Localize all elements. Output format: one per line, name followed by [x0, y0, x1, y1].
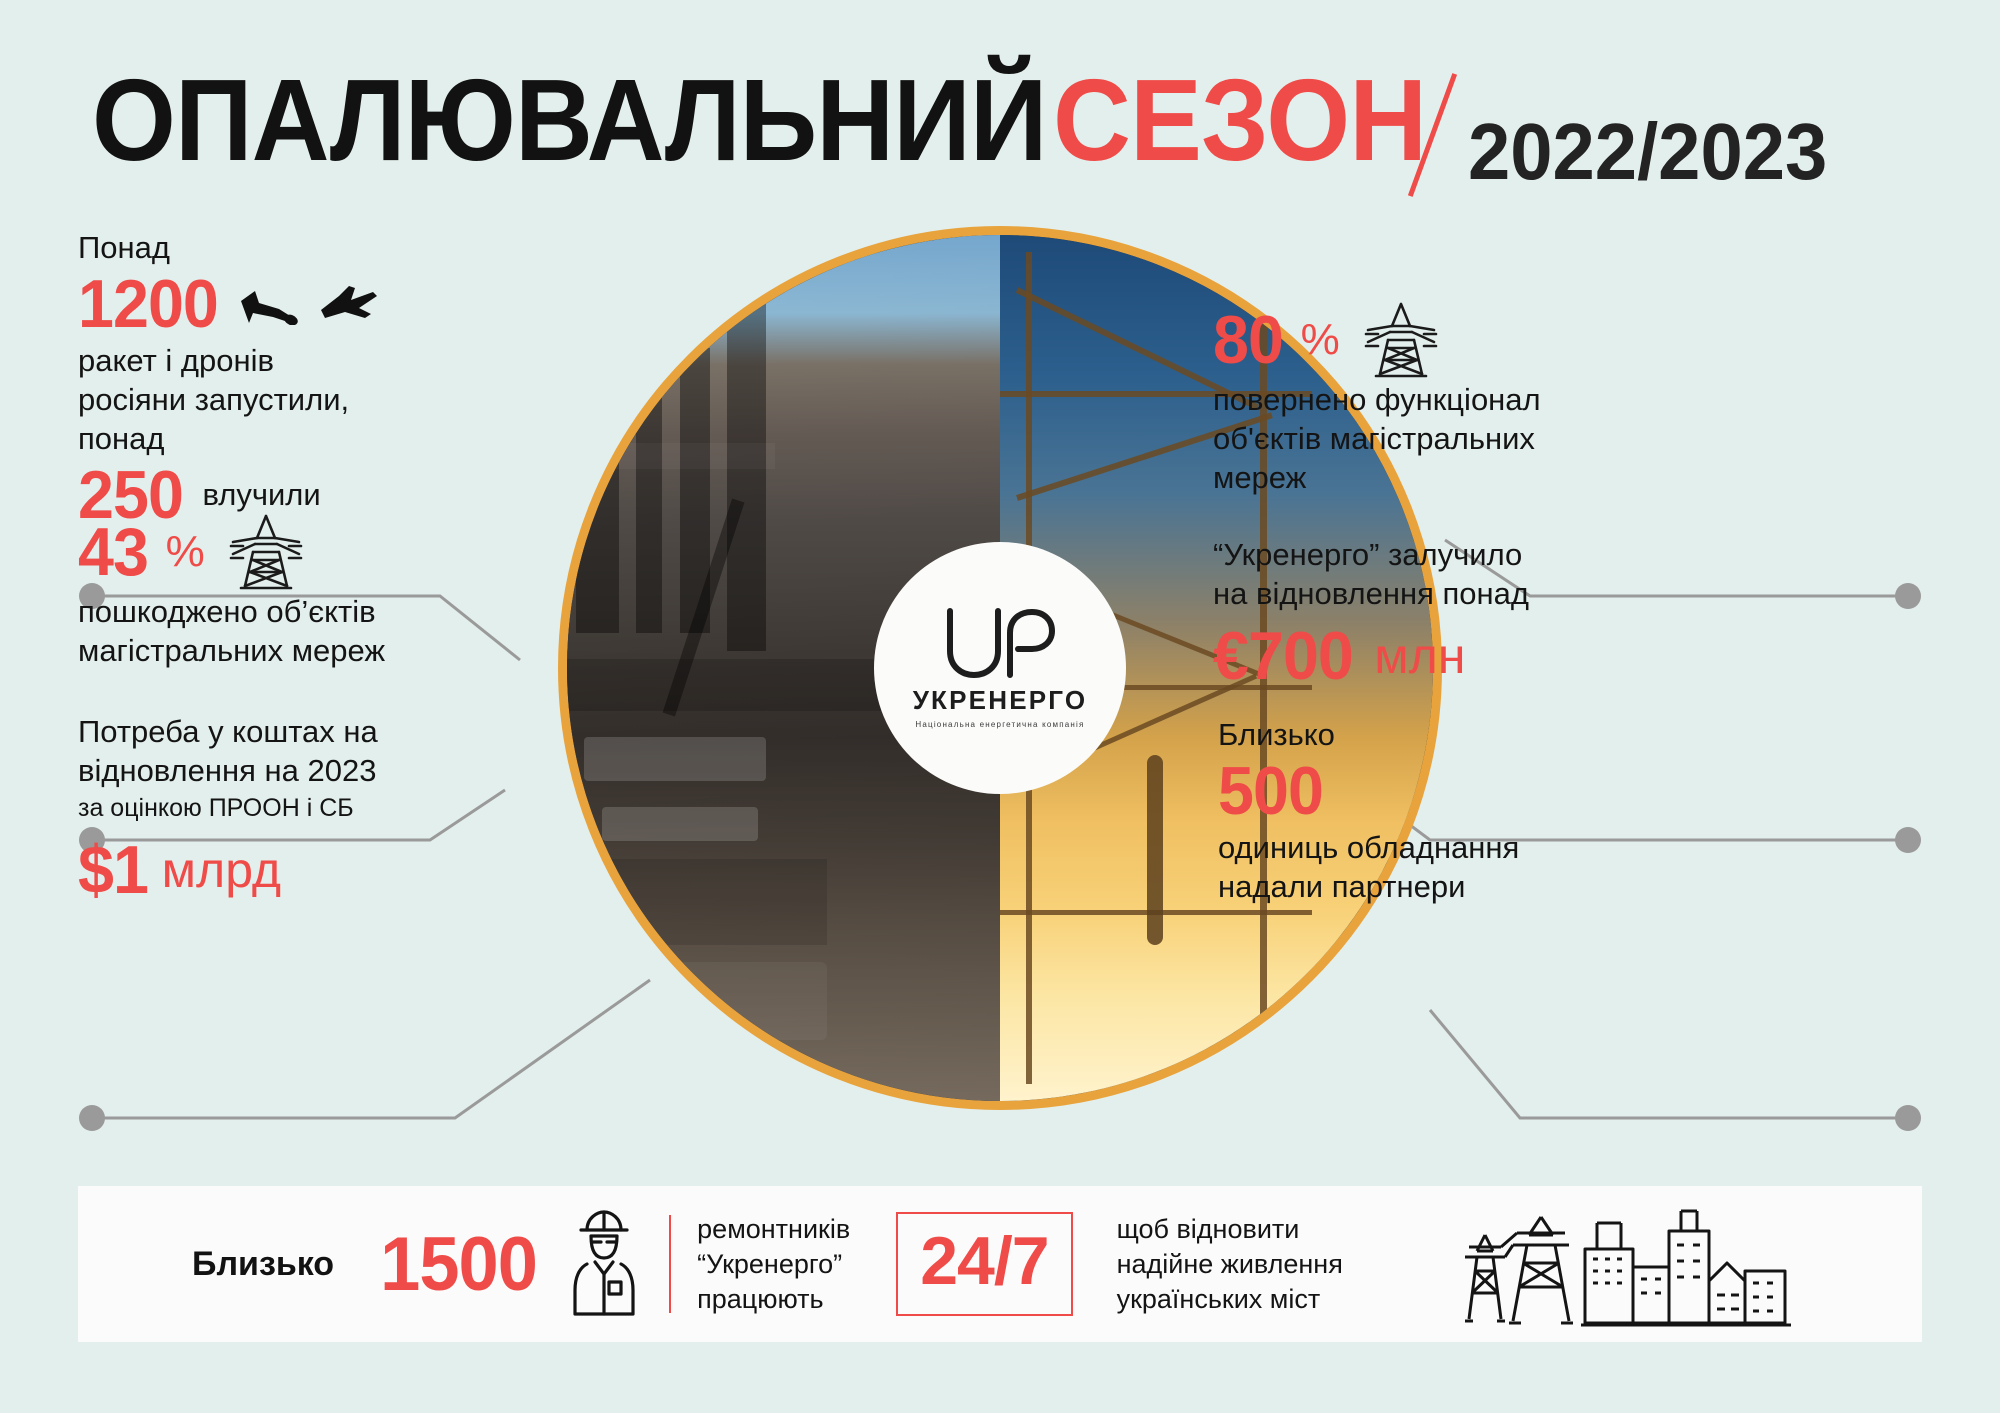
banner-text2-line3: українських міст — [1117, 1282, 1343, 1317]
stat-damaged-percent: 43 % пошкоджено об’єк — [78, 512, 498, 670]
stat-missiles-kicker: Понад — [78, 228, 498, 267]
stat-missiles-and-drones: Понад 1200 ракет і дронів росіяни запуст… — [78, 228, 498, 532]
banner-text1-line1: ремонтників — [697, 1212, 850, 1247]
page-title-accent: СЕЗОН — [1053, 62, 1426, 178]
drone-icon — [315, 284, 379, 324]
stat-restored-line1: повернено функціонал — [1213, 380, 1673, 419]
stat-funding-value: $1 — [78, 833, 148, 907]
stat-units-value: 500 — [1218, 754, 1323, 828]
stat-restored-line3: мереж — [1213, 458, 1673, 497]
stat-funds-raised: “Укренерго” залучило на відновлення пона… — [1213, 535, 1683, 693]
stat-damaged-percent-sign: % — [166, 527, 205, 577]
stat-units-kicker: Близько — [1218, 715, 1678, 754]
stat-missiles-line1: ракет і дронів — [78, 341, 498, 380]
stat-restored-line2: об'єктів магістральних — [1213, 419, 1673, 458]
banner-text1-line2: “Укренерго” — [697, 1247, 850, 1282]
page-title-main: ОПАЛЮВАЛЬНИЙ — [92, 62, 1046, 178]
banner-text-workers: ремонтників “Укренерго” працюють — [697, 1212, 850, 1317]
stat-raised-line2: на відновлення понад — [1213, 574, 1683, 613]
stat-missiles-line2: росіяни запустили, — [78, 380, 498, 419]
stat-damaged-line2: магістральних мереж — [78, 631, 498, 670]
banner-divider-left — [669, 1215, 671, 1313]
stat-funding-line1: Потреба у коштах на — [78, 712, 518, 751]
banner-workers-value: 1500 — [380, 1221, 537, 1308]
banner-text1-line3: працюють — [697, 1282, 850, 1317]
city-and-pylons-icon — [1455, 1201, 1795, 1327]
stat-missiles-line3: понад — [78, 419, 498, 458]
stat-funding-line2: відновлення на 2023 — [78, 751, 518, 790]
stat-funding-unit: млрд — [162, 841, 281, 899]
stat-raised-value: €700 — [1213, 619, 1353, 693]
stat-restored-percent-sign: % — [1301, 315, 1340, 365]
power-pylon-icon — [227, 512, 305, 592]
header: ОПАЛЮВАЛЬНИЙ СЕЗОН 2022/2023 — [0, 0, 2000, 230]
logo-wordmark: УКРЕНЕРГО — [913, 685, 1088, 716]
stat-units-line1: одиниць обладнання — [1218, 828, 1678, 867]
stat-damaged-line1: пошкоджено об’єктів — [78, 592, 498, 631]
stat-damaged-value: 43 — [78, 515, 148, 589]
stat-funding-line3: за оцінкою ПРООН і СБ — [78, 792, 518, 825]
infographic-page: ОПАЛЮВАЛЬНИЙ СЕЗОН 2022/2023 — [0, 0, 2000, 1413]
power-pylon-icon — [1362, 300, 1440, 380]
missile-icon — [239, 283, 301, 325]
stat-restored-value: 80 — [1213, 303, 1283, 377]
banner-text-mission: щоб відновити надійне живлення українськ… — [1117, 1212, 1343, 1317]
stat-missiles-value: 1200 — [78, 267, 218, 341]
banner-text2-line2: надійне живлення — [1117, 1247, 1343, 1282]
bottom-banner: Близько 1500 ремонтників “Укренерго” пра… — [78, 1186, 1922, 1342]
stat-funding-need: Потреба у коштах на відновлення на 2023 … — [78, 712, 518, 907]
banner-label: Близько — [192, 1245, 334, 1284]
ukrenergo-u-mark — [942, 607, 1058, 681]
stat-equipment-units: Близько 500 одиниць обладнання надали па… — [1218, 715, 1678, 906]
stat-raised-unit: млн — [1374, 627, 1465, 685]
stat-units-line2: надали партнери — [1218, 867, 1678, 906]
ukrenergo-logo-badge: УКРЕНЕРГО Національна енергетична компан… — [874, 542, 1126, 794]
worker-helmet-icon — [567, 1208, 641, 1320]
page-title-year: 2022/2023 — [1468, 112, 1827, 192]
stat-raised-line1: “Укренерго” залучило — [1213, 535, 1683, 574]
logo-tagline: Національна енергетична компанія — [915, 720, 1084, 729]
stat-restored-percent: 80 % повернено функці — [1213, 300, 1673, 497]
banner-text2-line1: щоб відновити — [1117, 1212, 1343, 1247]
stat-hits-suffix: влучили — [202, 477, 320, 513]
banner-247-badge: 24/7 — [896, 1212, 1072, 1316]
